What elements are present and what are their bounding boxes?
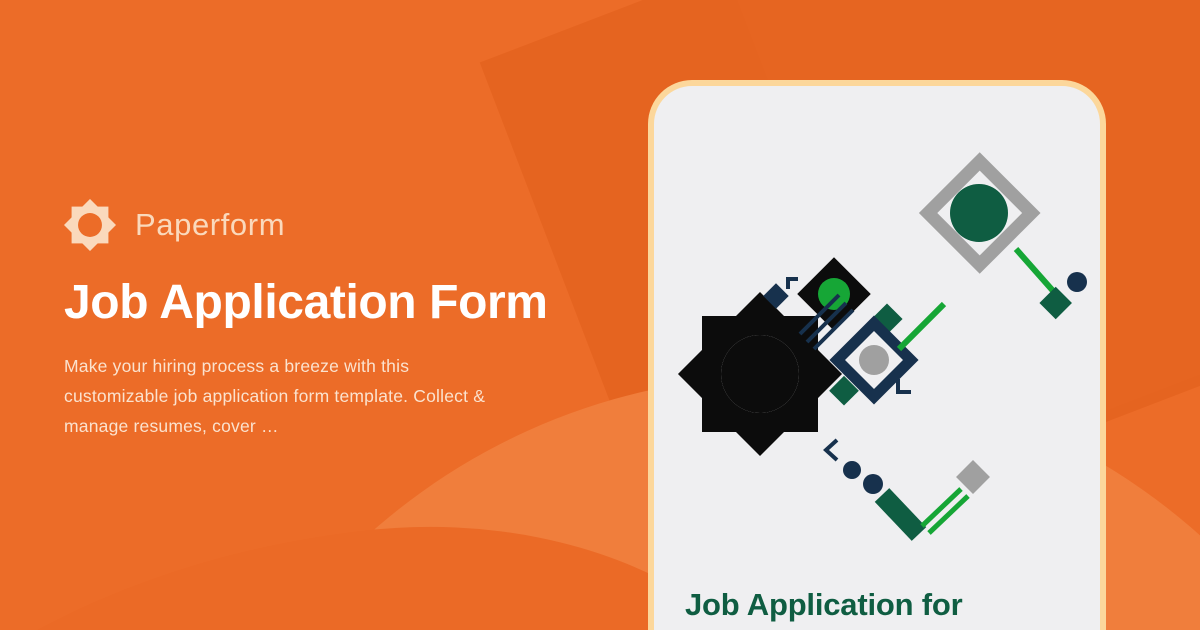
hero-content: Paperform Job Application Form Make your…	[64, 196, 604, 441]
abstract-geometric-shapes-illustration	[654, 86, 1100, 556]
page-title: Job Application Form	[64, 278, 604, 329]
paperform-star-logo-icon	[64, 199, 116, 251]
page-description: Make your hiring process a breeze with t…	[64, 351, 514, 441]
brand-name: Paperform	[135, 207, 285, 243]
brand-lockup: Paperform	[64, 196, 604, 254]
og-image-canvas: Paperform Job Application Form Make your…	[0, 0, 1200, 630]
card-heading: Job Application for	[685, 586, 963, 625]
template-preview-card[interactable]: Job Application for	[648, 80, 1106, 630]
